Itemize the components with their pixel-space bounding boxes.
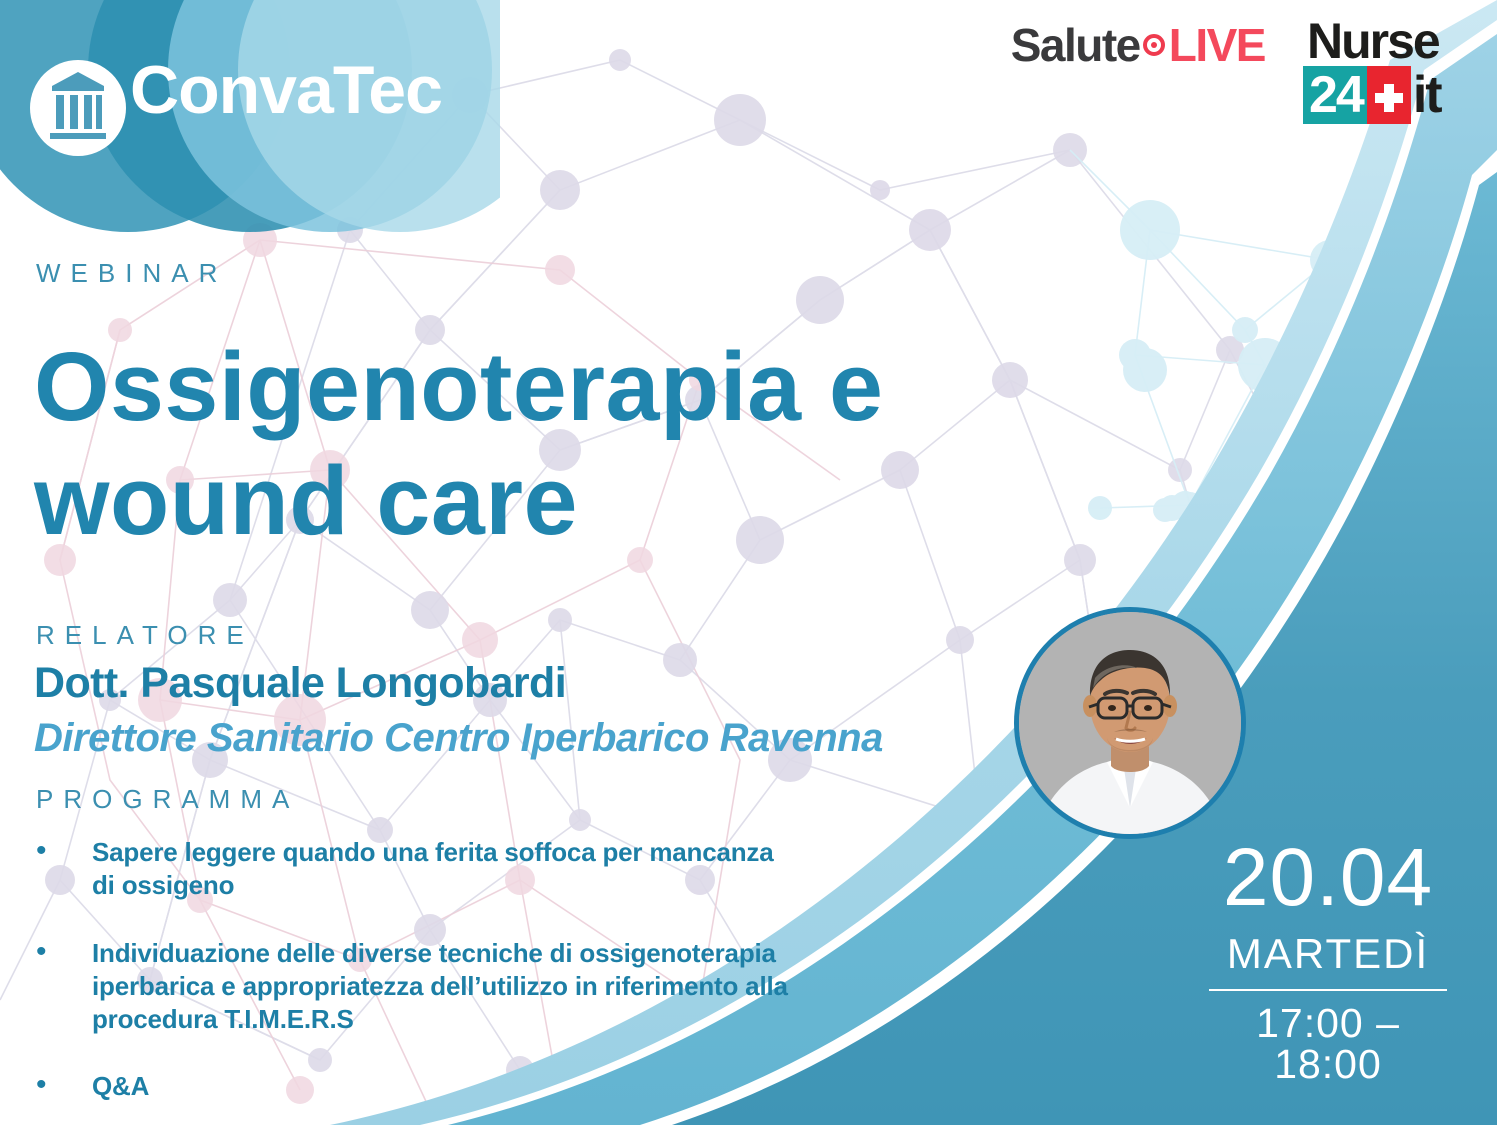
bullet-icon: • [30,836,92,866]
nurse24-bottom-row: 24 it [1303,66,1475,124]
nurse24-logo: Nurse 24 it [1303,18,1475,124]
bullet-icon: • [30,1070,92,1100]
webinar-poster: ConvaTec Salute LIVE Nurse 24 it WEBINAR… [0,0,1497,1125]
date-divider [1209,989,1447,991]
live-word: LIVE [1169,22,1265,68]
speaker-portrait [1019,612,1241,834]
relatore-label: RELATORE [36,622,254,648]
event-time: 17:00 – 18:00 [1197,1003,1459,1085]
list-item-text: Q&A [92,1070,149,1103]
list-item: • Q&A [30,1070,790,1103]
speaker-role: Direttore Sanitario Centro Iperbarico Ra… [34,718,883,758]
programma-list: • Sapere leggere quando una ferita soffo… [30,836,790,1125]
salute-word: Salute [1011,22,1140,68]
event-date: 20.04 [1197,837,1459,919]
webinar-label: WEBINAR [36,260,227,286]
list-item: • Individuazione delle diverse tecniche … [30,937,790,1037]
list-item-text: Sapere leggere quando una ferita soffoca… [92,836,790,903]
event-weekday: MARTEDÌ [1197,933,1459,975]
classical-building-icon [30,60,126,156]
salute-live-logo: Salute LIVE [1011,22,1265,68]
page-title: Ossigenoterapia e wound care [34,330,1194,559]
list-item-text: Individuazione delle diverse tecniche di… [92,937,790,1037]
bullet-icon: • [30,937,92,967]
event-date-block: 20.04 MARTEDÌ 17:00 – 18:00 [1197,837,1459,1085]
title-line-2: wound care [34,444,1194,558]
speaker-name: Dott. Pasquale Longobardi [34,662,566,705]
convatec-wordmark: ConvaTec [130,56,442,124]
nurse24-number: 24 [1303,66,1367,124]
avatar [1014,607,1246,839]
nurse24-suffix: it [1413,66,1441,124]
nurse24-top-word: Nurse [1307,18,1475,64]
medical-cross-icon [1367,66,1411,124]
programma-label: PROGRAMMA [36,786,299,812]
list-item: • Sapere leggere quando una ferita soffo… [30,836,790,903]
target-dot-icon [1143,34,1165,56]
title-line-1: Ossigenoterapia e [34,330,1194,444]
